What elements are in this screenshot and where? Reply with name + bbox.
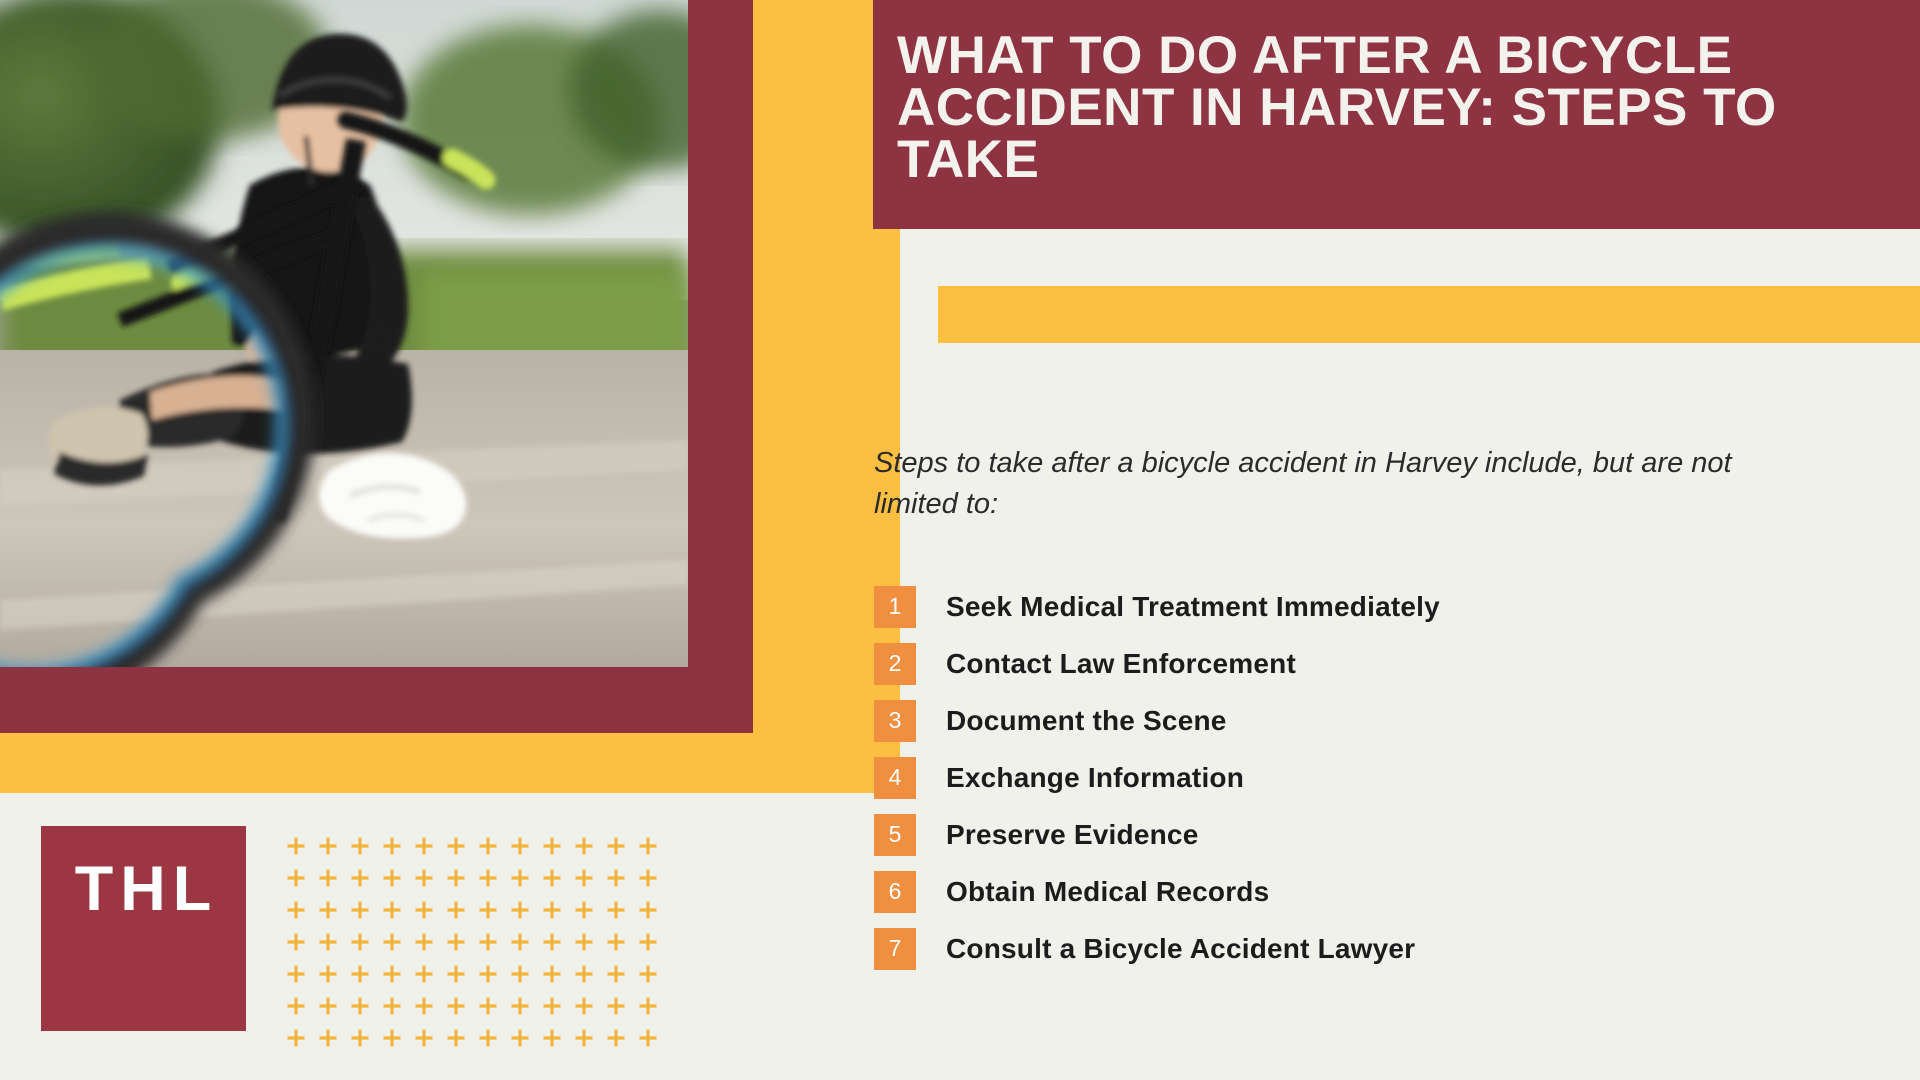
step-number-badge: 5	[874, 814, 916, 856]
step-label: Exchange Information	[946, 762, 1244, 794]
cyclist-accident-photo	[0, 0, 688, 667]
step-label: Consult a Bicycle Accident Lawyer	[946, 933, 1415, 965]
step-label: Document the Scene	[946, 705, 1227, 737]
step-number-badge: 7	[874, 928, 916, 970]
thl-logo-block: THL	[41, 826, 246, 1031]
step-label: Contact Law Enforcement	[946, 648, 1296, 680]
infographic-canvas: THL What to Do After a Bicycle Accident …	[0, 0, 1920, 1080]
step-number-badge: 2	[874, 643, 916, 685]
step-row: 6Obtain Medical Records	[874, 863, 1834, 920]
page-title: What to Do After a Bicycle Accident in H…	[897, 30, 1897, 186]
step-label: Preserve Evidence	[946, 819, 1198, 851]
intro-paragraph: Steps to take after a bicycle accident i…	[874, 443, 1754, 525]
step-number-badge: 3	[874, 700, 916, 742]
title-accent-bar	[938, 286, 1920, 343]
step-row: 5Preserve Evidence	[874, 806, 1834, 863]
step-label: Seek Medical Treatment Immediately	[946, 591, 1440, 623]
step-row: 1Seek Medical Treatment Immediately	[874, 578, 1834, 635]
steps-list: 1Seek Medical Treatment Immediately2Cont…	[874, 578, 1834, 977]
step-row: 4Exchange Information	[874, 749, 1834, 806]
plus-grid-decoration	[286, 836, 660, 1056]
thl-logo-text: THL	[75, 858, 218, 921]
step-row: 3Document the Scene	[874, 692, 1834, 749]
step-number-badge: 6	[874, 871, 916, 913]
step-number-badge: 4	[874, 757, 916, 799]
step-number-badge: 1	[874, 586, 916, 628]
step-label: Obtain Medical Records	[946, 876, 1269, 908]
step-row: 7Consult a Bicycle Accident Lawyer	[874, 920, 1834, 977]
step-row: 2Contact Law Enforcement	[874, 635, 1834, 692]
